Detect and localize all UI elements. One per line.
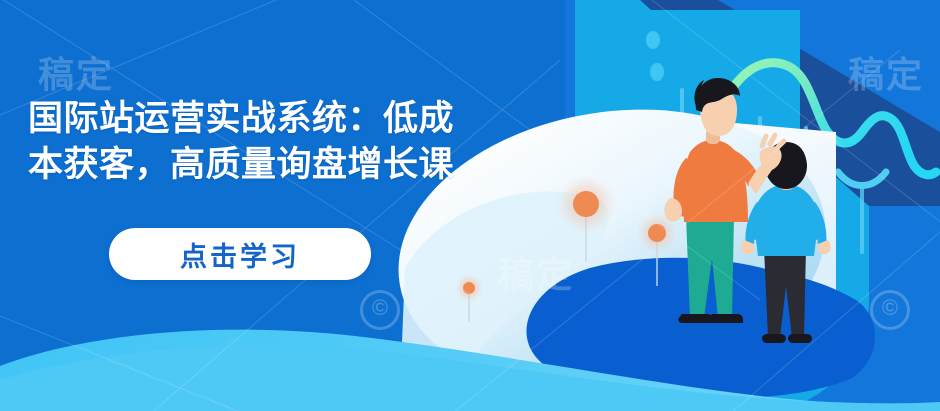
presenter-shoe-right	[708, 314, 743, 323]
marker-dot	[463, 282, 475, 294]
cta-label: 点击学习	[180, 235, 300, 274]
course-banner: 稿定 稿定 稿定 © © 国际站运营实战系统：低成 本获客，高质量询盘增长课 点…	[0, 0, 940, 411]
cyan-dot	[650, 63, 664, 81]
headline-line-2: 本获客，高质量询盘增长课	[28, 142, 628, 188]
observer-shoe-left	[762, 334, 786, 343]
headline-line-1: 国际站运营实战系统：低成	[28, 96, 628, 142]
marker-dot	[648, 224, 666, 242]
presenter-shoe-left	[678, 314, 713, 323]
illustration-canvas	[0, 0, 940, 411]
cyan-dot	[646, 31, 660, 49]
page-title: 国际站运营实战系统：低成 本获客，高质量询盘增长课	[28, 96, 628, 188]
observer-shoe-right	[788, 334, 812, 343]
click-to-learn-button[interactable]: 点击学习	[109, 228, 371, 280]
marker-dot	[573, 191, 599, 217]
